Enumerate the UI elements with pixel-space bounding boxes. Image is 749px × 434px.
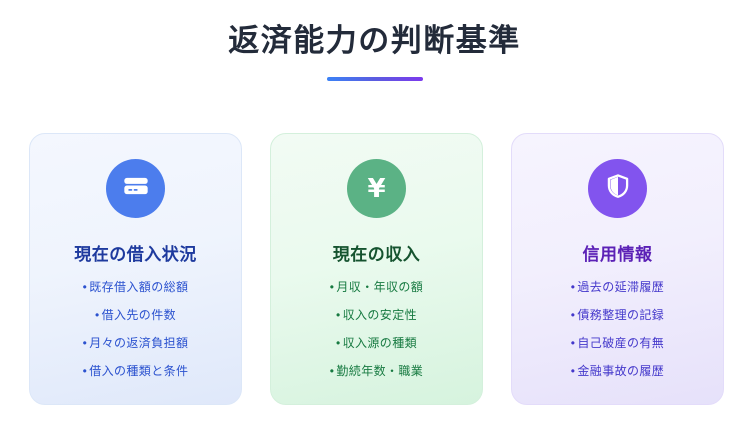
card-icon-badge: ¥ [347,159,406,218]
card-title: 現在の収入 [283,245,470,265]
list-item-label: 収入源の種類 [343,336,417,350]
list-item-label: 月収・年収の額 [336,280,423,294]
bullet-icon: • [571,336,576,350]
card-current-income: ¥ 現在の収入 •月収・年収の額 •収入の安定性 •収入源の種類 •勤続年数・職… [270,133,483,405]
list-item-label: 月々の返済負担額 [89,336,188,350]
list-item: •自己破産の有無 [524,337,711,349]
list-item: •金融事故の履歴 [524,365,711,377]
card-icon-badge [588,159,647,218]
yen-currency-icon: ¥ [367,176,385,202]
list-item: •過去の延滞履歴 [524,281,711,293]
shield-icon [605,173,631,204]
list-item: •月々の返済負担額 [42,337,229,349]
list-item: •勤続年数・職業 [283,365,470,377]
list-item-label: 過去の延滞履歴 [577,280,664,294]
bullet-icon: • [83,280,88,294]
list-item: •収入の安定性 [283,309,470,321]
bullet-icon: • [330,364,335,378]
list-item-label: 収入の安定性 [343,308,417,322]
page-header: 返済能力の判断基準 [0,0,749,81]
bullet-icon: • [336,308,341,322]
list-item-label: 借入の種類と条件 [89,364,188,378]
card-title: 信用情報 [524,245,711,265]
bullet-icon: • [336,336,341,350]
list-item-label: 既存借入額の総額 [89,280,188,294]
bullet-icon: • [95,308,100,322]
list-item: •借入先の件数 [42,309,229,321]
bullet-icon: • [571,308,576,322]
list-item-label: 金融事故の履歴 [577,364,664,378]
list-item: •収入源の種類 [283,337,470,349]
list-item-label: 債務整理の記録 [577,308,664,322]
card-item-list: •過去の延滞履歴 •債務整理の記録 •自己破産の有無 •金融事故の履歴 [524,281,711,377]
card-item-list: •月収・年収の額 •収入の安定性 •収入源の種類 •勤続年数・職業 [283,281,470,377]
list-item: •既存借入額の総額 [42,281,229,293]
criteria-card-group: 現在の借入状況 •既存借入額の総額 •借入先の件数 •月々の返済負担額 •借入の… [29,133,726,405]
bullet-icon: • [83,364,88,378]
bullet-icon: • [83,336,88,350]
bullet-icon: • [571,280,576,294]
card-credit-information: 信用情報 •過去の延滞履歴 •債務整理の記録 •自己破産の有無 •金融事故の履歴 [511,133,724,405]
list-item: •月収・年収の額 [283,281,470,293]
bullet-icon: • [571,364,576,378]
card-item-list: •既存借入額の総額 •借入先の件数 •月々の返済負担額 •借入の種類と条件 [42,281,229,377]
title-divider [327,77,423,81]
card-icon-badge [106,159,165,218]
page-title: 返済能力の判断基準 [0,22,749,59]
bullet-icon: • [330,280,335,294]
list-item-label: 勤続年数・職業 [336,364,423,378]
list-item-label: 自己破産の有無 [577,336,664,350]
infographic-page: 返済能力の判断基準 現在の借入状況 •既存借入額の総額 •借入先の件数 [0,0,749,434]
list-item: •債務整理の記録 [524,309,711,321]
credit-card-icon [122,172,150,205]
card-current-borrowing: 現在の借入状況 •既存借入額の総額 •借入先の件数 •月々の返済負担額 •借入の… [29,133,242,405]
list-item-label: 借入先の件数 [102,308,176,322]
card-title: 現在の借入状況 [42,245,229,265]
list-item: •借入の種類と条件 [42,365,229,377]
